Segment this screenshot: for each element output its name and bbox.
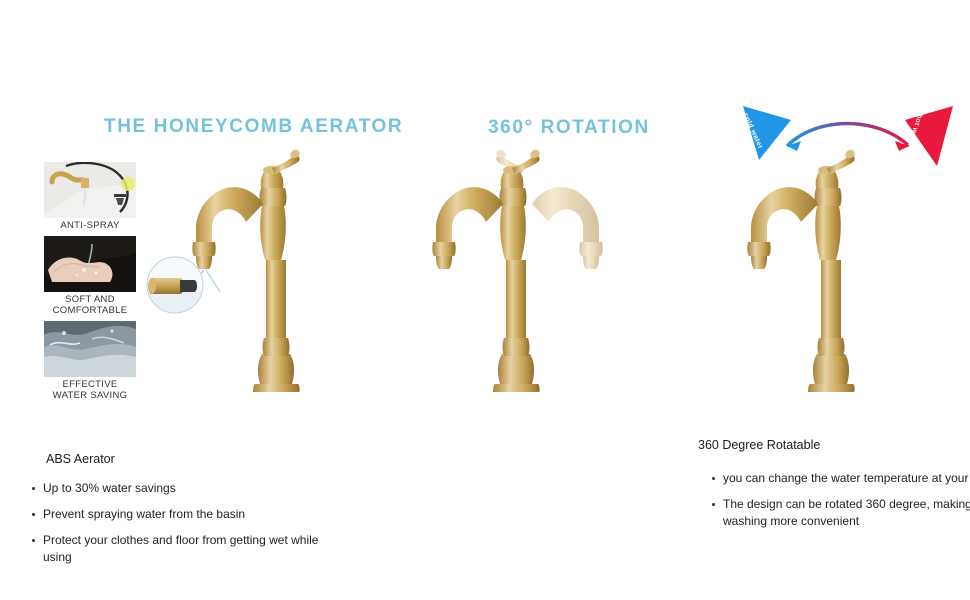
panel-360-rotation: 360° ROTATION	[340, 0, 680, 600]
thumbnail-caption: ANTI-SPRAY	[44, 218, 136, 234]
bullet-list: Up to 30% water savings Prevent spraying…	[30, 480, 340, 566]
bullet-item: Up to 30% water savings	[30, 480, 340, 497]
heading-360-rotation: 360° ROTATION	[488, 117, 650, 139]
thumbnail-caption: SOFT AND COMFORTABLE	[44, 292, 136, 319]
text-block-abs-aerator: ABS Aerator Up to 30% water savings Prev…	[30, 452, 340, 575]
faucet-image-rotation	[400, 142, 640, 402]
bullet-item: Prevent spraying water from the basin	[30, 506, 340, 523]
thumbnail-soft-comfortable: SOFT AND COMFORTABLE	[44, 236, 136, 319]
panel-honeycomb-aerator: THE HONEYCOMB AERATOR ANTI-SPRAY	[0, 0, 340, 600]
bullet-item: Protect your clothes and floor from gett…	[30, 532, 340, 566]
aerator-zoom-callout	[140, 250, 210, 320]
thumbnail-list: ANTI-SPRAY SOFT AND COMFORTABLE	[44, 162, 136, 406]
thumbnail-anti-spray: ANTI-SPRAY	[44, 162, 136, 234]
faucet-image-valve	[715, 142, 885, 402]
splashing-water-photo	[44, 321, 136, 377]
panel-imported-valve: cold water hot water	[680, 0, 970, 600]
hands-under-water-photo	[44, 236, 136, 292]
faucet-anti-spray-photo	[44, 162, 136, 218]
thumbnail-water-saving: EFFECTIVE WATER SAVING	[44, 321, 136, 404]
block-title: ABS Aerator	[46, 452, 340, 466]
thumbnail-caption: EFFECTIVE WATER SAVING	[44, 377, 136, 404]
